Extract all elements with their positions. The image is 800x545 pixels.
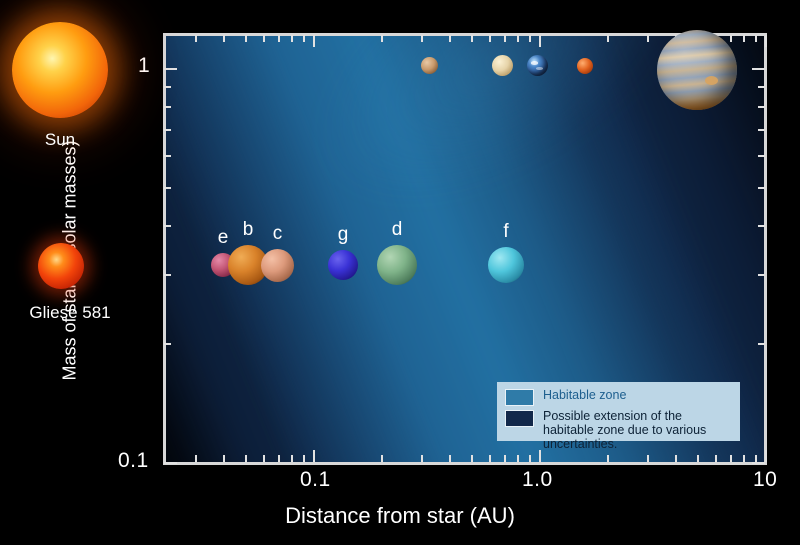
earth-cloud	[531, 61, 539, 64]
axis-tick	[195, 455, 197, 462]
axis-tick	[730, 455, 732, 462]
planet-c: c	[261, 249, 294, 282]
axis-tick	[529, 35, 531, 42]
axis-tick	[755, 35, 757, 42]
y-axis-line	[163, 33, 166, 465]
axis-tick	[647, 35, 649, 42]
axis-tick	[313, 35, 315, 47]
axis-tick	[164, 343, 171, 345]
axis-tick	[381, 35, 383, 42]
axis-tick	[278, 35, 280, 42]
axis-tick	[607, 35, 609, 42]
x-axis-title: Distance from star (AU)	[0, 503, 800, 529]
axis-tick	[752, 68, 765, 70]
axis-tick	[758, 187, 765, 189]
x-tick-label-1.0: 1.0	[522, 468, 553, 492]
y-tick-label-1: 1	[138, 54, 150, 78]
axis-tick	[758, 155, 765, 157]
axis-tick	[752, 462, 765, 464]
axis-tick	[421, 35, 423, 42]
habitable-zone-legend-text: Habitable zone	[543, 388, 626, 402]
x-axis-line	[163, 462, 767, 465]
axis-tick	[164, 129, 171, 131]
axis-tick	[164, 274, 171, 276]
legend-row-habitable-zone: Habitable zone	[505, 388, 732, 406]
axis-tick	[489, 455, 491, 462]
axis-tick	[607, 455, 609, 462]
axis-tick	[421, 455, 423, 462]
axis-tick	[489, 35, 491, 42]
axis-tick	[291, 35, 293, 42]
axis-tick	[758, 343, 765, 345]
extension-zone-swatch	[505, 410, 534, 427]
axis-tick	[313, 450, 315, 462]
axis-tick	[381, 455, 383, 462]
axis-tick	[449, 455, 451, 462]
planet-g: g	[328, 250, 358, 280]
axis-tick	[164, 462, 177, 464]
planet-c-label: c	[273, 223, 283, 245]
axis-tick	[517, 455, 519, 462]
axis-tick	[758, 274, 765, 276]
axis-tick	[291, 455, 293, 462]
axis-tick	[164, 155, 171, 157]
axis-tick	[278, 455, 280, 462]
axis-tick	[164, 68, 177, 70]
axis-tick	[755, 455, 757, 462]
mars-planet-icon	[577, 58, 593, 74]
axis-tick	[223, 35, 225, 42]
axis-tick	[303, 35, 305, 42]
x-tick-label-10: 10	[753, 468, 777, 492]
axis-tick	[195, 35, 197, 42]
axis-tick	[758, 129, 765, 131]
axis-tick	[539, 35, 541, 47]
axis-tick	[758, 225, 765, 227]
axis-tick	[245, 35, 247, 42]
axis-tick	[517, 35, 519, 42]
axis-tick	[263, 455, 265, 462]
axis-tick	[539, 450, 541, 462]
sun-image	[12, 22, 108, 118]
axis-tick	[223, 455, 225, 462]
axis-tick	[164, 86, 171, 88]
gliese-581-label: Gliese 581	[29, 303, 110, 323]
planet-b-label: b	[243, 219, 254, 241]
legend-row-extension: Possible extension of the habitable zone…	[505, 409, 732, 451]
axis-tick	[765, 35, 767, 47]
axis-tick	[715, 455, 717, 462]
planet-f-label: f	[503, 221, 508, 243]
axis-tick	[471, 455, 473, 462]
mercury-planet-icon	[421, 57, 438, 74]
axis-tick	[743, 35, 745, 42]
axis-tick	[730, 35, 732, 42]
axis-tick	[164, 187, 171, 189]
axis-tick	[245, 455, 247, 462]
sun-label: Sun	[45, 130, 75, 150]
axis-tick	[765, 450, 767, 462]
legend: Habitable zone Possible extension of the…	[497, 382, 740, 441]
axis-tick	[758, 86, 765, 88]
axis-tick	[529, 455, 531, 462]
x-tick-label-0.1: 0.1	[300, 468, 331, 492]
axis-tick	[675, 455, 677, 462]
earth-planet-icon	[527, 55, 548, 76]
axis-tick	[647, 455, 649, 462]
venus-planet-icon	[492, 55, 513, 76]
planet-d: d	[377, 245, 417, 285]
planet-g-label: g	[338, 224, 349, 246]
axis-tick	[758, 106, 765, 108]
axis-tick	[504, 35, 506, 42]
gliese-581-star-image	[38, 243, 84, 289]
planet-e-label: e	[218, 227, 229, 249]
great-red-spot	[705, 76, 718, 85]
axis-tick	[743, 455, 745, 462]
jupiter-planet-icon	[657, 30, 737, 110]
axis-tick	[697, 455, 699, 462]
planet-d-label: d	[392, 219, 403, 241]
habitable-zone-swatch	[505, 389, 534, 406]
axis-tick	[164, 225, 171, 227]
y-tick-label-0.1: 0.1	[118, 449, 149, 473]
figure-canvas: 0.1 1.0 10 1 0.1 Distance from star (AU)…	[0, 0, 800, 545]
axis-tick	[504, 455, 506, 462]
earth-cloud	[536, 67, 542, 70]
axis-tick	[303, 455, 305, 462]
axis-tick	[449, 35, 451, 42]
y-axis-right-line	[764, 33, 767, 465]
axis-tick	[471, 35, 473, 42]
axis-tick	[263, 35, 265, 42]
axis-tick	[164, 106, 171, 108]
planet-f: f	[488, 247, 524, 283]
extension-zone-legend-text: Possible extension of the habitable zone…	[543, 409, 732, 451]
